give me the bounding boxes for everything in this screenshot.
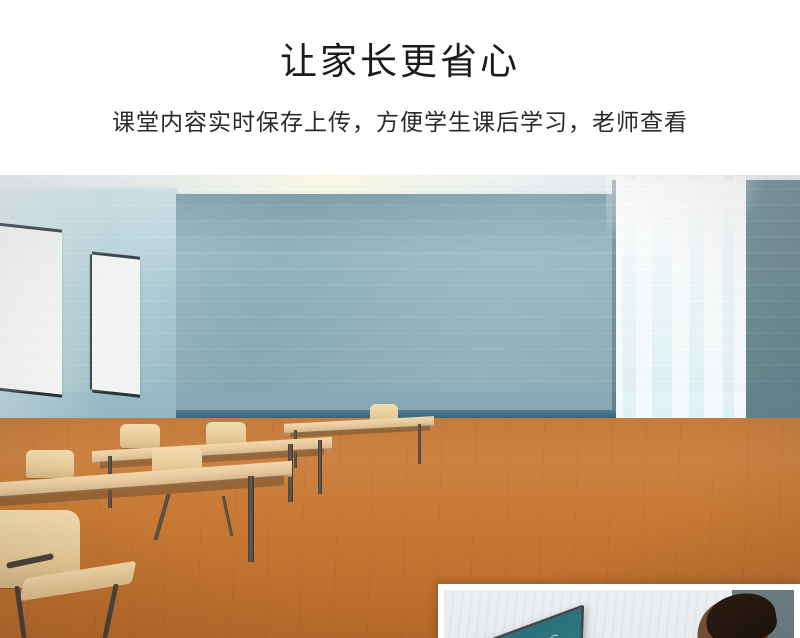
- promo-page: 让家长更省心 课堂内容实时保存上传，方便学生课后学习，老师查看: [0, 0, 800, 638]
- inset-photo: [438, 584, 800, 638]
- classroom-photo: 2 m + n b a: [0, 172, 800, 638]
- inset-scene: [444, 590, 794, 638]
- student: [654, 594, 794, 638]
- page-title: 让家长更省心: [0, 41, 800, 85]
- chair-back: [26, 450, 74, 478]
- desk-leg: [318, 440, 322, 494]
- student-hair: [703, 590, 780, 638]
- desk-leg: [248, 476, 254, 562]
- desk-leg: [418, 424, 421, 464]
- header-section: 让家长更省心 课堂内容实时保存上传，方便学生课后学习，老师查看: [0, 0, 800, 175]
- floor-light-sheen: [0, 172, 800, 392]
- page-subtitle: 课堂内容实时保存上传，方便学生课后学习，老师查看: [0, 107, 800, 139]
- chair-back: [120, 424, 160, 448]
